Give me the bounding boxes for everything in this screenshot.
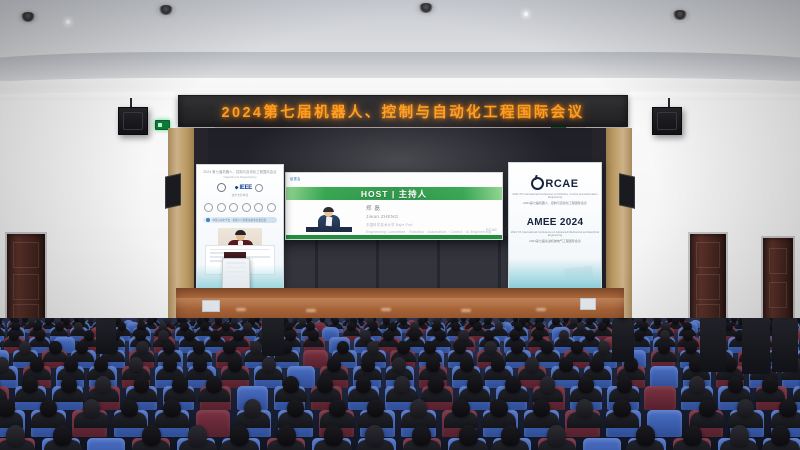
- audience-head: [358, 318, 364, 322]
- amee-sub-cn: 2024第七届先进机械电气工程国际会议: [509, 239, 601, 243]
- audience-head: [613, 399, 630, 418]
- audience-head: [188, 425, 207, 446]
- led-banner-text: 2024第七届机器人、控制与自动化工程国际会议: [222, 101, 585, 122]
- audience-head: [49, 341, 61, 354]
- audience-head: [299, 318, 306, 325]
- audience-head: [577, 322, 586, 332]
- audience-head: [409, 330, 420, 341]
- audience-head: [576, 399, 593, 418]
- audience-head: [135, 330, 146, 341]
- audience-head: [121, 399, 138, 418]
- audience-head: [222, 322, 231, 332]
- audience-area: [0, 318, 800, 450]
- audience-head: [233, 330, 244, 341]
- audience-head: [634, 330, 645, 341]
- audience-head: [533, 330, 544, 341]
- audience-head: [40, 399, 57, 418]
- audience-head: [134, 376, 150, 393]
- audience-seat: [650, 366, 678, 388]
- audience-head: [547, 425, 566, 446]
- audience-head: [484, 341, 496, 354]
- floor-light-reflection: [461, 309, 471, 312]
- audience-head: [400, 318, 407, 325]
- audience-head: [360, 330, 371, 341]
- audience-head: [578, 376, 594, 393]
- audience-head: [142, 425, 161, 446]
- audience-head: [243, 322, 252, 332]
- banner-left-title: 2024 第七届机器人、控制与自动化工程国际会议: [197, 169, 283, 174]
- ceiling-pin-light: [66, 20, 70, 24]
- partner-icon: [242, 203, 251, 212]
- audience-head: [223, 341, 235, 354]
- audience-head: [540, 376, 556, 393]
- audience-head: [397, 341, 409, 354]
- rcae-logo: RCAE: [509, 177, 601, 190]
- audience-head: [262, 357, 276, 372]
- partner-icon: [267, 203, 276, 212]
- audience-head: [685, 341, 697, 354]
- floor-light-reflection: [306, 309, 316, 312]
- audience-head: [585, 330, 596, 341]
- banner-left-subtitle: Organized & Supported by: [197, 175, 283, 179]
- floor-light-reflection: [381, 308, 391, 311]
- portrait-shirt: [326, 217, 333, 226]
- speaker-affiliation-en: Engineering Committee · Robotics · Autom…: [366, 230, 494, 234]
- audience-head: [779, 399, 796, 418]
- audience-head: [559, 330, 570, 341]
- audience-head: [412, 425, 431, 446]
- support-text: 中国自动化学会 · 机器人与智能系统专业委员会: [212, 218, 266, 222]
- partner-icon: [254, 203, 263, 212]
- audience-seat: [87, 438, 125, 450]
- audience-head: [172, 376, 188, 393]
- downlight-icon: [20, 12, 36, 22]
- stage-equipment-box: [580, 298, 596, 310]
- audience-head: [158, 330, 169, 341]
- sponsor-logo-row: IEEE: [197, 183, 283, 192]
- audience-head: [424, 341, 436, 354]
- audience-head: [347, 322, 356, 332]
- audience-head: [163, 357, 177, 372]
- audience-head: [410, 399, 427, 418]
- audience-head: [30, 357, 44, 372]
- audience-head: [473, 322, 482, 332]
- audience-head: [9, 330, 20, 341]
- stage-equipment-box: [202, 300, 220, 312]
- line-array-speaker: [652, 107, 682, 135]
- audience-head: [94, 357, 108, 372]
- audience-head: [460, 357, 474, 372]
- audience-head: [136, 341, 148, 354]
- audience-head: [22, 318, 28, 322]
- audience-head: [61, 376, 77, 393]
- downlight-icon: [158, 5, 174, 15]
- audience-head: [210, 330, 221, 341]
- support-dot-icon: [206, 218, 210, 222]
- audience-head: [660, 330, 671, 341]
- floor-light-reflection: [236, 308, 246, 311]
- audience-head: [95, 376, 111, 393]
- amee-logo-text: AMEE 2024: [509, 217, 601, 228]
- audience-head: [63, 318, 70, 325]
- audience-head: [277, 425, 296, 446]
- banner-photo-hair: [235, 230, 246, 235]
- audience-head: [383, 330, 394, 341]
- ieee-logo-icon: IEEE: [235, 185, 252, 191]
- portrait-hair: [323, 207, 334, 212]
- audience-head: [598, 322, 607, 332]
- rollup-banner-right: RCAE 2024 7th International Conference o…: [508, 162, 602, 294]
- audience-head: [428, 376, 444, 393]
- audience-head: [231, 318, 238, 325]
- audience-head: [458, 330, 469, 341]
- audience-head: [163, 399, 180, 418]
- audience-head: [83, 399, 100, 418]
- gear-icon: [531, 177, 544, 190]
- audience-head: [329, 399, 346, 418]
- rcae-brand-text: RCAE: [545, 178, 578, 190]
- audience-head: [699, 399, 716, 418]
- sponsor-name: [229, 186, 232, 190]
- audience-head: [451, 322, 460, 332]
- audience-head: [525, 357, 539, 372]
- audience-head: [570, 318, 577, 325]
- partner-icon: [217, 203, 226, 212]
- standing-attendee: [742, 318, 770, 374]
- audience-head: [228, 357, 242, 372]
- standing-attendee: [772, 318, 798, 372]
- audience-seat: [644, 386, 675, 410]
- audience-head: [200, 322, 209, 332]
- audience-head: [586, 318, 593, 325]
- audience-head: [452, 399, 469, 418]
- projection-screen: 组委会 HOST | 主持人 郑 磊 Jiwan ZHENG 中国科学技术大学 …: [285, 172, 503, 240]
- audience-head: [590, 357, 604, 372]
- audience-head: [511, 341, 523, 354]
- banner-left-section: 技术支持单位: [197, 193, 283, 197]
- rcae-sub-cn: 2024第七届机器人、控制与自动化工程国际会议: [509, 201, 601, 205]
- partner-icons-row: [197, 203, 283, 212]
- audience-head: [287, 399, 304, 418]
- audience-head: [491, 357, 505, 372]
- audience-head: [737, 399, 754, 418]
- slide-title-band: HOST | 主持人: [286, 187, 502, 200]
- audience-head: [683, 330, 694, 341]
- audience-seat: [583, 438, 621, 450]
- audience-head: [53, 425, 72, 446]
- audience-head: [617, 376, 633, 393]
- downlight-icon: [418, 3, 434, 13]
- audience-head: [495, 322, 504, 332]
- door-right[interactable]: [688, 232, 728, 332]
- standing-attendee: [96, 318, 116, 354]
- audience-head: [636, 425, 655, 446]
- speaker-portrait: [306, 206, 352, 232]
- audience-head: [215, 318, 222, 325]
- standing-attendee: [612, 318, 634, 362]
- audience-head: [533, 399, 550, 418]
- audience-head: [190, 318, 196, 322]
- audience-head: [324, 425, 343, 446]
- doc-line: [210, 249, 270, 250]
- audience-head: [435, 330, 446, 341]
- audience-head: [308, 330, 319, 341]
- slide-speaker-info: 郑 磊 Jiwan ZHENG 中国科学技术大学 Bajie Prof. Eng…: [366, 204, 494, 234]
- led-banner: 2024第七届机器人、控制与自动化工程国际会议: [178, 95, 628, 127]
- floor-light-reflection: [536, 308, 546, 311]
- partner-logo-icon: [255, 184, 263, 192]
- audience-head: [552, 318, 559, 325]
- audience-head: [337, 341, 349, 354]
- audience-head: [392, 357, 406, 372]
- audience-head: [147, 318, 154, 325]
- audience-head: [490, 399, 507, 418]
- audience-head: [184, 330, 195, 341]
- ceiling-pin-light: [524, 12, 528, 16]
- audience-head: [418, 318, 425, 325]
- audience-head: [84, 330, 95, 341]
- audience-head: [672, 318, 679, 325]
- speaker-affiliation-cn: 中国科学技术大学 Bajie Prof.: [366, 222, 494, 227]
- slide-logo: 组委会: [290, 176, 301, 181]
- audience-head: [64, 357, 78, 372]
- partner-icon: [229, 203, 238, 212]
- audience-head: [283, 376, 299, 393]
- audience-head: [771, 425, 790, 446]
- audience-head: [505, 376, 521, 393]
- audience-head: [118, 322, 127, 332]
- audience-head: [45, 318, 52, 325]
- audience-head: [367, 399, 384, 418]
- audience-head: [484, 330, 495, 341]
- audience-head: [394, 376, 410, 393]
- audience-head: [459, 425, 478, 446]
- audience-head: [762, 376, 778, 393]
- audience-head: [22, 376, 38, 393]
- standing-attendee: [262, 318, 284, 356]
- audience-head: [683, 425, 702, 446]
- standing-attendee: [700, 318, 726, 372]
- line-array-speaker: [118, 107, 148, 135]
- amee-sub-en: 2024 7th International Conference on Adv…: [509, 231, 601, 237]
- wall-monitor-right: [619, 173, 635, 208]
- audience-head: [510, 330, 521, 341]
- audience-head: [332, 318, 339, 325]
- audience-head: [74, 322, 83, 332]
- slide-title-text: HOST | 主持人: [361, 188, 427, 200]
- audience-head: [559, 357, 573, 372]
- audience-head: [230, 425, 249, 446]
- audience-head: [0, 399, 15, 418]
- audience-head: [501, 425, 520, 446]
- audience-head: [244, 399, 261, 418]
- audience-head: [55, 322, 64, 332]
- audience-head: [193, 357, 207, 372]
- downlight-icon: [672, 10, 688, 20]
- audience-head: [369, 322, 378, 332]
- audience-head: [728, 376, 744, 393]
- slide-footer-bar: [286, 235, 502, 239]
- audience-head: [285, 330, 296, 341]
- audience-head: [689, 376, 705, 393]
- audience-head: [129, 357, 143, 372]
- audience-head: [598, 341, 610, 354]
- partner-icon: [204, 203, 213, 212]
- audience-head: [730, 425, 749, 446]
- speaker-name-en: Jiwan ZHENG: [366, 214, 494, 219]
- auditorium-photo: 2024第七届机器人、控制与自动化工程国际会议 组委会 HOST | 主持人 郑…: [0, 0, 800, 450]
- speaker-name-cn: 郑 磊: [366, 204, 494, 212]
- audience-head: [426, 357, 440, 372]
- audience-head: [6, 425, 25, 446]
- wall-monitor-left: [165, 173, 181, 208]
- audience-head: [35, 330, 46, 341]
- audience-head: [206, 376, 222, 393]
- rcae-sub-en: 2024 7th International Conference on Rob…: [509, 193, 601, 199]
- audience-head: [467, 376, 483, 393]
- support-bar: 中国自动化学会 · 机器人与智能系统专业委员会: [203, 217, 277, 223]
- audience-head: [484, 318, 491, 325]
- audience-head: [356, 376, 372, 393]
- audience-head: [654, 318, 661, 325]
- sponsor-circle-icon: [217, 183, 226, 192]
- audience-head: [361, 357, 375, 372]
- audience-head: [327, 357, 341, 372]
- slide-watermark: RCAE: [486, 227, 497, 232]
- audience-head: [250, 341, 262, 354]
- audience-head: [317, 376, 333, 393]
- audience-head: [365, 425, 384, 446]
